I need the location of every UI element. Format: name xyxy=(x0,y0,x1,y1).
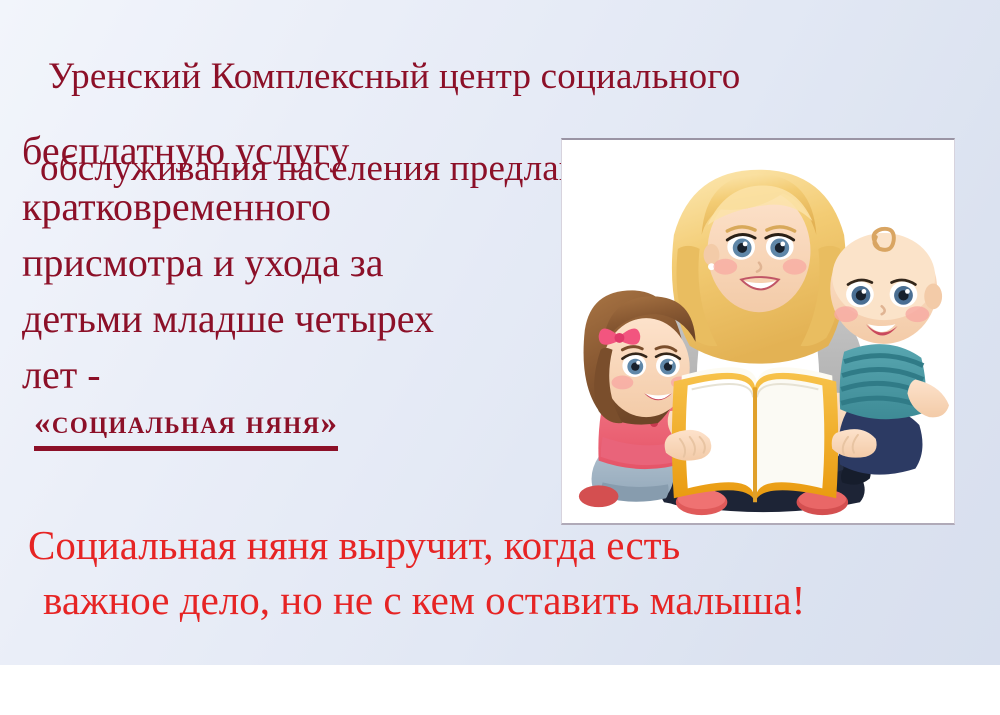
service-description-line-3: присмотра и ухода за xyxy=(22,235,547,291)
service-description-line-2: кратковременного xyxy=(22,179,547,235)
tagline-line-1: Социальная няня выручит, когда есть xyxy=(28,518,958,573)
page-title-line-1: Уренский Комплексный центр социального xyxy=(40,54,975,100)
tagline-line-2: важное дело, но не с кем оставить малыша… xyxy=(28,573,958,628)
slide-background: Уренский Комплексный центр социального о… xyxy=(0,0,1000,665)
service-description: бесплатную услугу кратковременного присм… xyxy=(22,123,547,403)
service-description-line-5: лет - xyxy=(22,347,547,403)
service-description-line-4: детьми младше четырех xyxy=(22,291,547,347)
tagline: Социальная няня выручит, когда есть важн… xyxy=(28,518,958,628)
service-name-heading: «социальная няня» xyxy=(34,402,338,451)
poster-canvas: Уренский Комплексный центр социального о… xyxy=(0,0,1000,715)
family-illustration xyxy=(561,138,955,525)
family-illustration-svg xyxy=(562,140,954,523)
woman-head xyxy=(672,170,846,364)
service-description-line-1: бесплатную услугу xyxy=(22,123,547,179)
